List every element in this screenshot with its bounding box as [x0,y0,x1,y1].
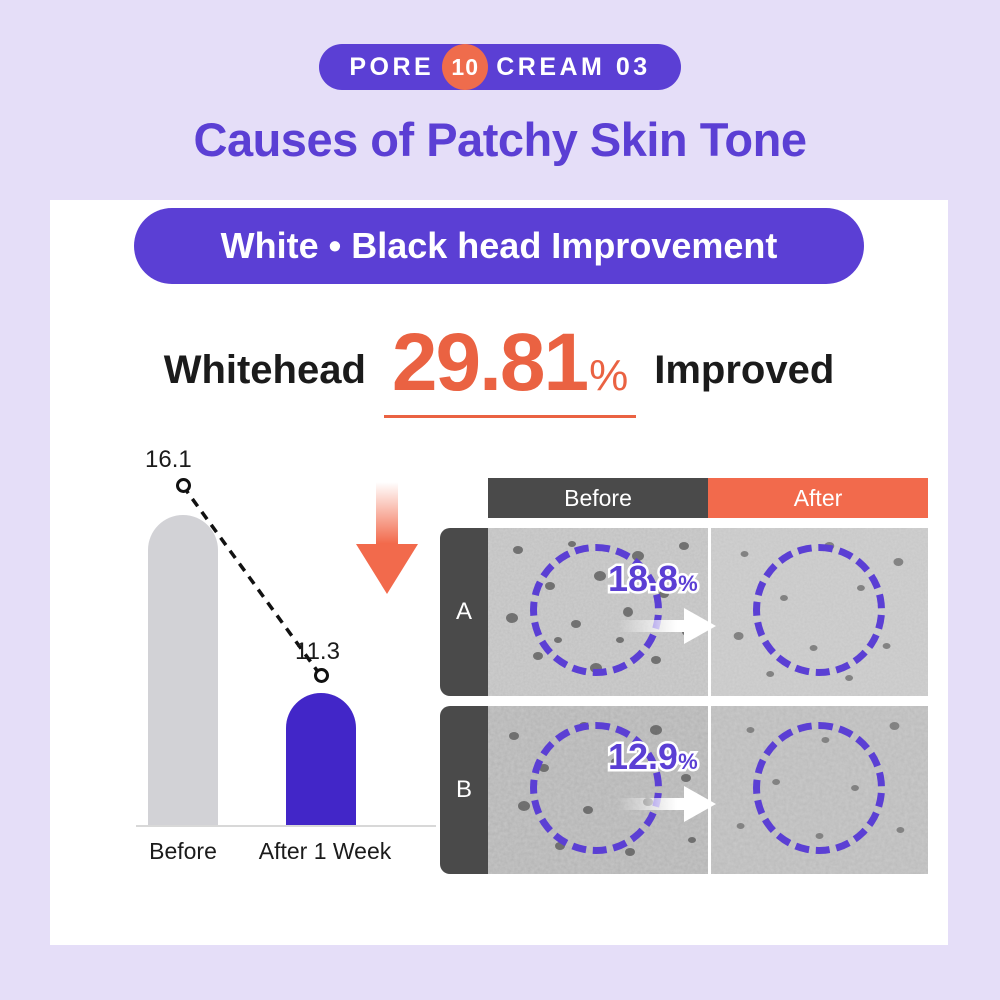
axis-label-after: After 1 Week [250,838,400,865]
skin-image-b-after [708,706,928,874]
improvement-percent-a-symbol: % [678,571,698,596]
row-tab-b: B [440,706,488,874]
data-point-before [176,478,191,493]
improvement-percent-b-value: 12.9 [608,736,678,777]
page-title: Causes of Patchy Skin Tone [0,112,1000,167]
stat-label: Whitehead [164,348,366,393]
data-point-after [314,668,329,683]
improvement-percent-b-symbol: % [678,749,698,774]
column-header-before: Before [488,478,708,518]
stat-value-wrap: 29.81 % [384,322,636,404]
product-badge: PORE 10 CREAM 03 [319,44,680,90]
improvement-percent-a-value: 18.8 [608,558,678,599]
content-card: White • Black head Improvement Whitehead… [50,200,948,945]
headline-stat: Whitehead 29.81 % Improved [50,308,948,418]
column-header-after: After [708,478,928,518]
axis-label-before: Before [128,838,238,865]
decrease-arrow-icon [352,482,422,602]
badge-prefix-label: PORE [349,55,434,80]
stat-underline [384,415,636,418]
row-tab-a: A [440,528,488,696]
roi-circle-a-after [753,544,885,676]
header-badge-wrap: PORE 10 CREAM 03 [0,44,1000,90]
improvement-percent-b: 12.9% [608,736,698,778]
stat-percent-symbol: % [589,351,628,401]
poster-root: { "header": { "badge": { "prefix": "PORE… [0,0,1000,1000]
roi-circle-b-after [753,722,885,854]
value-label-before: 16.1 [145,446,192,474]
badge-number-circle: 10 [442,44,488,90]
improvement-percent-a: 18.8% [608,558,698,600]
comparison-row-b: B [440,706,928,874]
improvement-arrow-icon-a [618,606,718,646]
value-label-after: 11.3 [295,638,340,666]
comparison-row-a: A [440,528,928,696]
badge-suffix-label: CREAM 03 [496,55,650,80]
stat-suffix: Improved [654,348,834,393]
stat-value: 29.81 [392,322,587,404]
bar-chart: 16.1 11.3 Before After 1 Week [90,440,440,870]
comparison-header-row: Before After [488,478,928,518]
section-banner: White • Black head Improvement [134,208,864,284]
skin-image-a-after [708,528,928,696]
improvement-arrow-icon-b [618,784,718,824]
before-after-panel: Before After A [440,460,930,872]
